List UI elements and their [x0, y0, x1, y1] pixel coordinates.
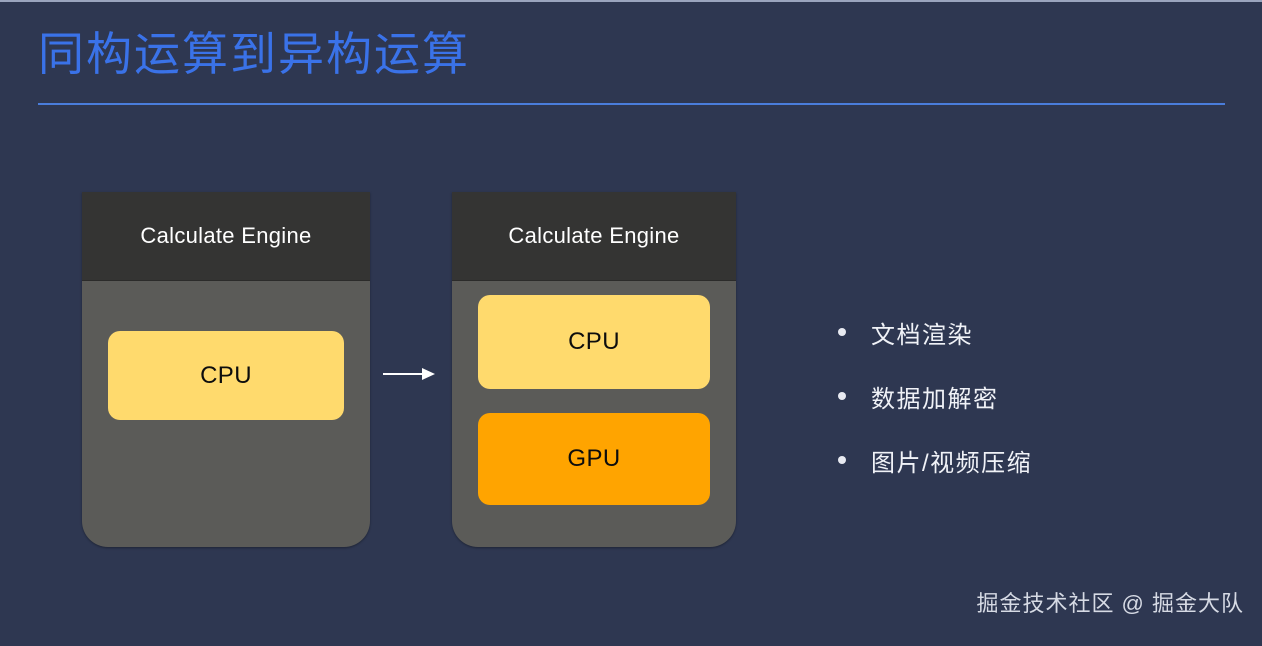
- list-item: 文档渲染: [838, 300, 1238, 364]
- arrow-shaft: [383, 373, 423, 375]
- right-engine-header: Calculate Engine: [452, 192, 736, 281]
- title-divider: [38, 103, 1225, 105]
- slide-canvas: 同构运算到异构运算 Calculate Engine CPU Calculate…: [0, 0, 1262, 646]
- arrow-head: [422, 368, 435, 380]
- page-title: 同构运算到异构运算: [38, 24, 470, 84]
- left-cpu-chip: CPU: [108, 331, 344, 420]
- bullet-dot-icon: [838, 456, 846, 464]
- list-item: 数据加解密: [838, 364, 1238, 428]
- bullet-dot-icon: [838, 392, 846, 400]
- right-cpu-chip: CPU: [478, 295, 710, 389]
- list-item-label: 图片/视频压缩: [871, 443, 1032, 478]
- list-item: 图片/视频压缩: [838, 428, 1238, 492]
- right-calculate-engine-box: Calculate Engine CPU GPU: [452, 192, 736, 547]
- left-calculate-engine-box: Calculate Engine CPU: [82, 192, 370, 547]
- left-engine-body: CPU: [82, 281, 370, 547]
- footer-watermark: 掘金技术社区 @ 掘金大队: [976, 586, 1244, 618]
- right-engine-body: CPU GPU: [452, 281, 736, 547]
- right-gpu-chip: GPU: [478, 413, 710, 505]
- arrow-right-icon: [383, 367, 435, 381]
- list-item-label: 文档渲染: [871, 315, 973, 350]
- left-engine-header: Calculate Engine: [82, 192, 370, 281]
- use-case-list: 文档渲染 数据加解密 图片/视频压缩: [838, 300, 1238, 492]
- list-item-label: 数据加解密: [871, 379, 999, 414]
- bullet-dot-icon: [838, 328, 846, 336]
